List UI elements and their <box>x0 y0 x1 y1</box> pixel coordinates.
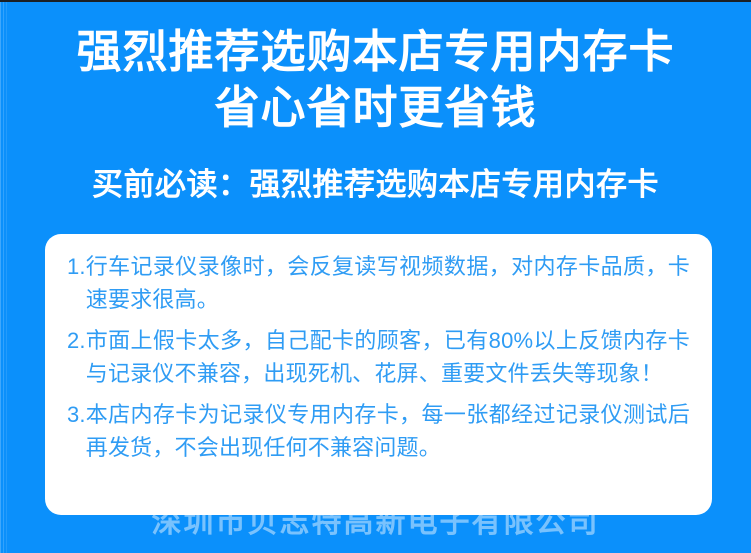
headline-block: 强烈推荐选购本店专用内存卡 省心省时更省钱 <box>0 24 751 136</box>
notice-item: 3. 本店内存卡为记录仪专用内存卡，每一张都经过记录仪测试后再发货，不会出现任何… <box>67 398 690 464</box>
headline-line-1: 强烈推荐选购本店专用内存卡 <box>0 24 751 80</box>
notice-item-text: 行车记录仪录像时，会反复读写视频数据，对内存卡品质，卡速要求很高。 <box>86 250 690 316</box>
notice-item-index: 3. <box>67 398 86 431</box>
notice-item: 1. 行车记录仪录像时，会反复读写视频数据，对内存卡品质，卡速要求很高。 <box>67 250 690 316</box>
promo-banner: 深圳市贝志特高新电子有限公司 强烈推荐选购本店专用内存卡 省心省时更省钱 买前必… <box>0 0 751 553</box>
notice-item-text: 市面上假卡太多，自己配卡的顾客，已有80%以上反馈内存卡与记录仪不兼容，出现死机… <box>86 324 690 390</box>
headline-line-2: 省心省时更省钱 <box>0 80 751 136</box>
notice-item-text: 本店内存卡为记录仪专用内存卡，每一张都经过记录仪测试后再发货，不会出现任何不兼容… <box>86 398 690 464</box>
subtitle-must-read: 买前必读：强烈推荐选购本店专用内存卡 <box>0 165 751 205</box>
notice-card: 1. 行车记录仪录像时，会反复读写视频数据，对内存卡品质，卡速要求很高。 2. … <box>45 234 712 515</box>
notice-item: 2. 市面上假卡太多，自己配卡的顾客，已有80%以上反馈内存卡与记录仪不兼容，出… <box>67 324 690 390</box>
notice-item-index: 1. <box>67 250 86 283</box>
notice-item-index: 2. <box>67 324 86 357</box>
